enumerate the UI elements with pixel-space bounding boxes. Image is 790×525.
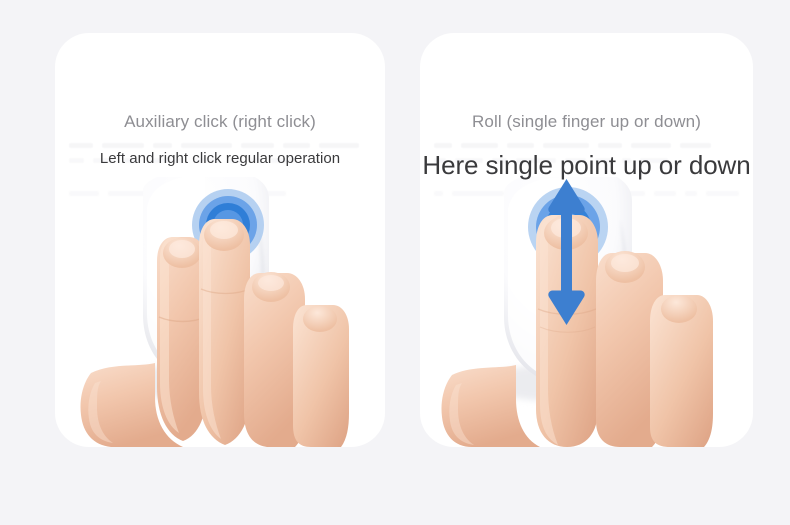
finger-index <box>199 219 250 445</box>
finger-pinky <box>293 305 349 447</box>
gesture-guide-stage: Auxiliary click (right click) Left and r… <box>0 0 790 525</box>
finger-ring <box>650 295 713 447</box>
gesture-card-auxiliary-click: Auxiliary click (right click) Left and r… <box>55 33 385 447</box>
hand-single-finger-on-mouse-illustration <box>420 177 753 447</box>
card-text-block: Auxiliary click (right click) Left and r… <box>55 111 385 169</box>
card-headline: Here single point up or down <box>420 149 753 183</box>
card-text-block: Roll (single finger up or down) Here sin… <box>420 111 753 183</box>
card-subtitle: Roll (single finger up or down) <box>420 111 753 132</box>
hand-two-fingers-on-mouse-illustration <box>55 177 385 447</box>
gesture-card-roll-scroll: Roll (single finger up or down) Here sin… <box>420 33 753 447</box>
card-subtitle: Auxiliary click (right click) <box>55 111 385 132</box>
card-headline: Left and right click regular operation <box>55 149 385 169</box>
